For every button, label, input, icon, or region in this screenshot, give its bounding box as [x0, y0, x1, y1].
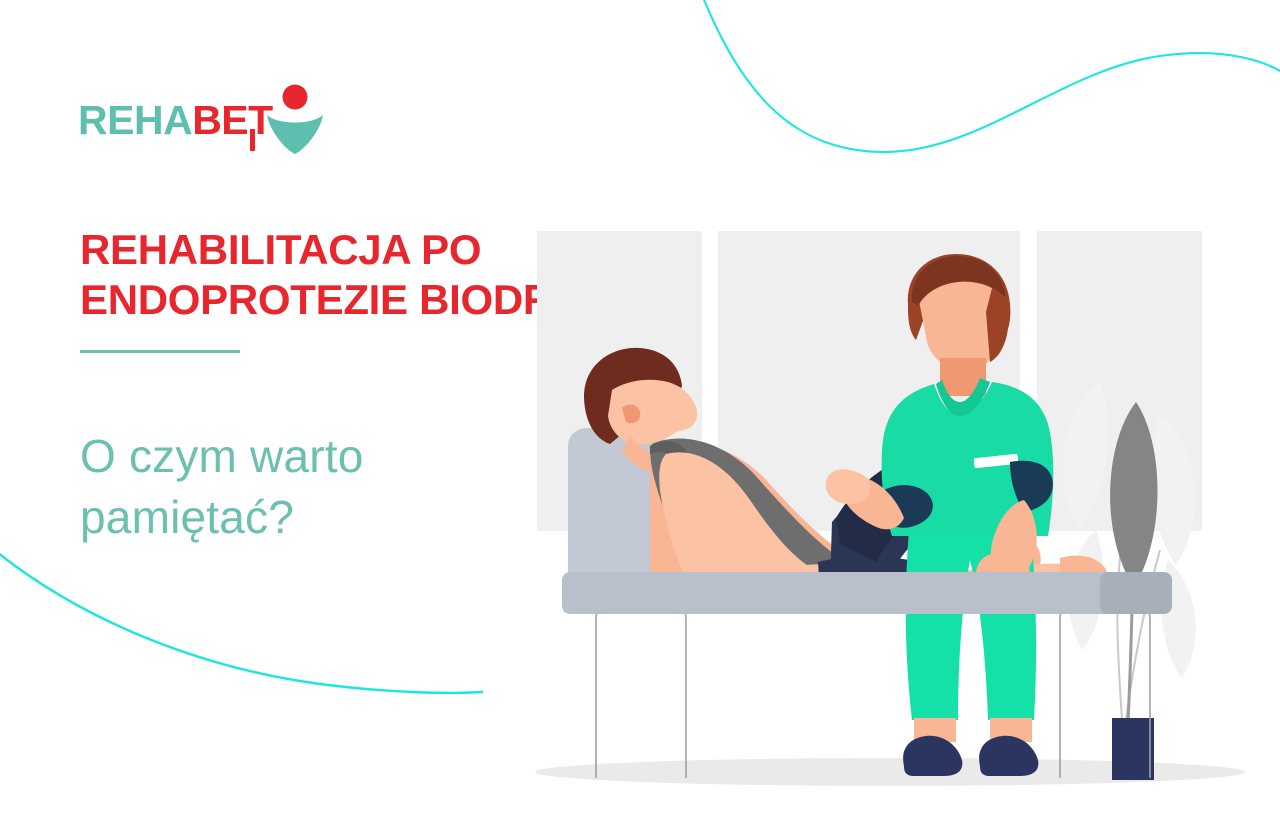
logo-wordmark: REHABET — [78, 100, 273, 141]
logo-t-descender — [250, 129, 255, 151]
logo-wordmark-part-1: REHA — [78, 97, 192, 143]
person-funnel-icon — [264, 83, 326, 155]
bottom-left-swoosh — [0, 548, 482, 693]
treatment-table — [562, 572, 1172, 614]
top-right-swoosh — [700, 0, 1280, 152]
page-subtitle: O czym warto pamiętać? — [80, 426, 500, 547]
plant-stem-1 — [1117, 540, 1122, 720]
logo-wordmark-part-2: BET — [192, 97, 273, 143]
table-legs — [596, 594, 1150, 778]
poster-canvas: REHABET REHABILITACJA PO ENDOPROTEZIE BI… — [0, 0, 1280, 819]
hero-illustration — [500, 200, 1280, 819]
title-divider — [80, 350, 240, 353]
plant-vase — [1112, 718, 1154, 780]
brand-logo[interactable]: REHABET — [78, 83, 328, 155]
